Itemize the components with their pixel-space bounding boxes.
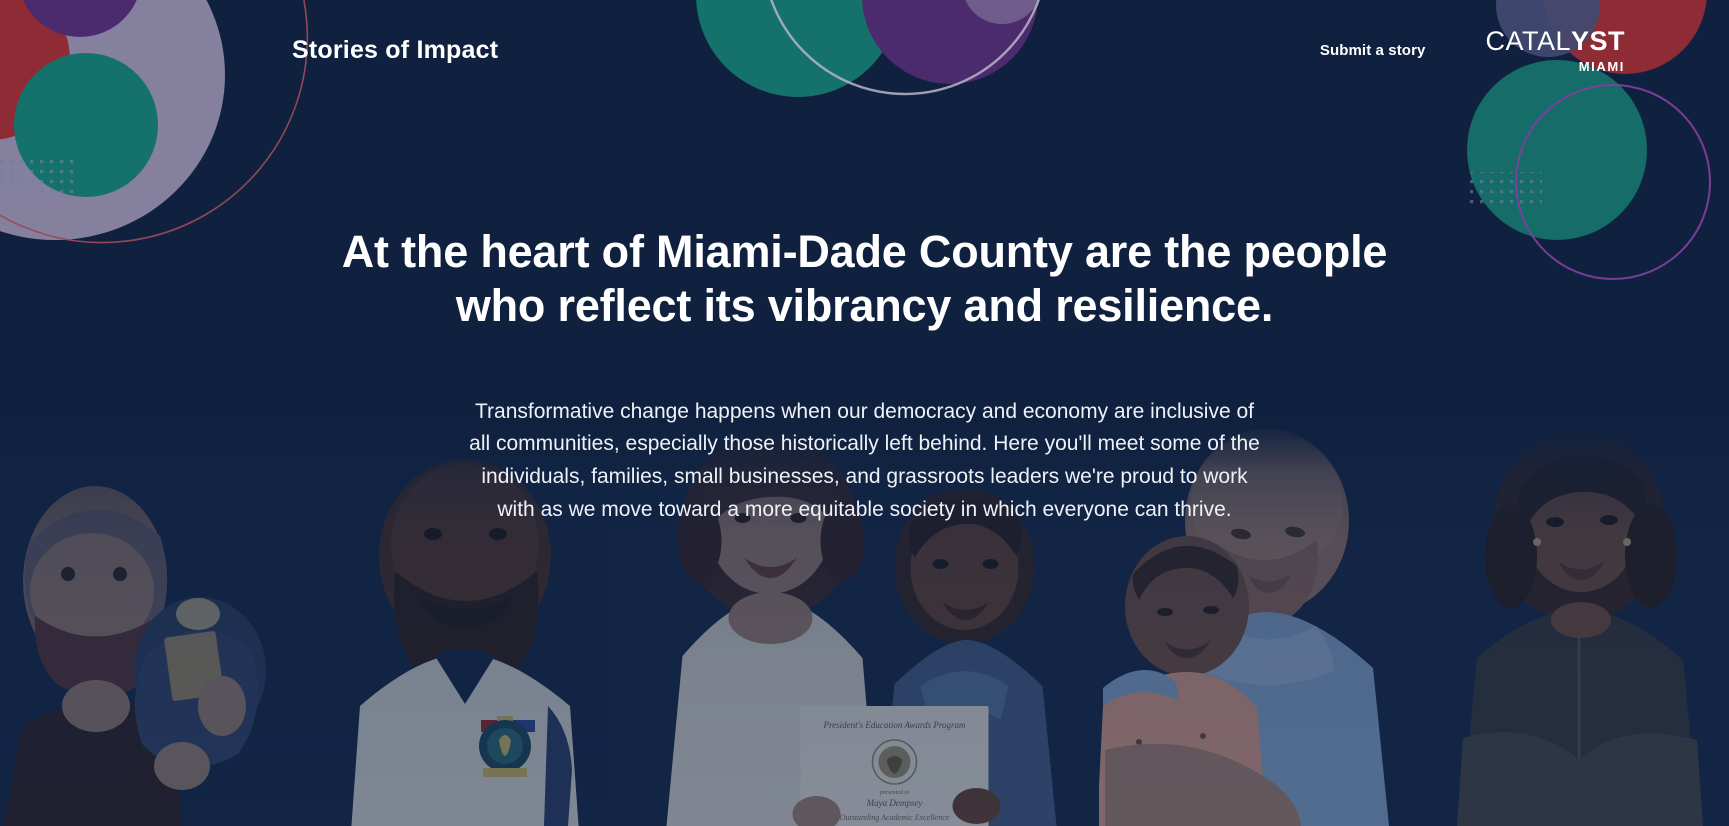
- hero-heading: At the heart of Miami-Dade County are th…: [335, 225, 1395, 334]
- catalyst-miami-logo[interactable]: CATALYST MIAMI: [1485, 28, 1625, 73]
- hero-paragraph: Transformative change happens when our d…: [465, 396, 1265, 526]
- logo-word-light: CATAL: [1485, 26, 1571, 56]
- decor-dotgrid-right: [1468, 172, 1542, 206]
- site-header: Stories of Impact Submit a story CATALYS…: [0, 0, 1729, 100]
- stories-of-impact-page: President's Education Awards Program pre…: [0, 0, 1729, 826]
- svg-text:Outstanding Academic Excellenc: Outstanding Academic Excellence: [840, 813, 950, 822]
- hero-section: At the heart of Miami-Dade County are th…: [0, 225, 1729, 526]
- header-nav: Submit a story CATALYST MIAMI: [1320, 28, 1677, 73]
- svg-text:President's Education Awards P: President's Education Awards Program: [822, 720, 966, 730]
- svg-text:presented to: presented to: [879, 790, 909, 796]
- logo-subtitle: MIAMI: [1579, 60, 1625, 73]
- submit-a-story-link[interactable]: Submit a story: [1320, 42, 1426, 59]
- logo-wordmark: CATALYST: [1485, 28, 1625, 55]
- logo-word-bold: YST: [1571, 26, 1625, 56]
- svg-text:Maya Dempsey: Maya Dempsey: [866, 798, 923, 808]
- decor-dotgrid-left: [0, 155, 74, 199]
- page-title: Stories of Impact: [292, 36, 498, 65]
